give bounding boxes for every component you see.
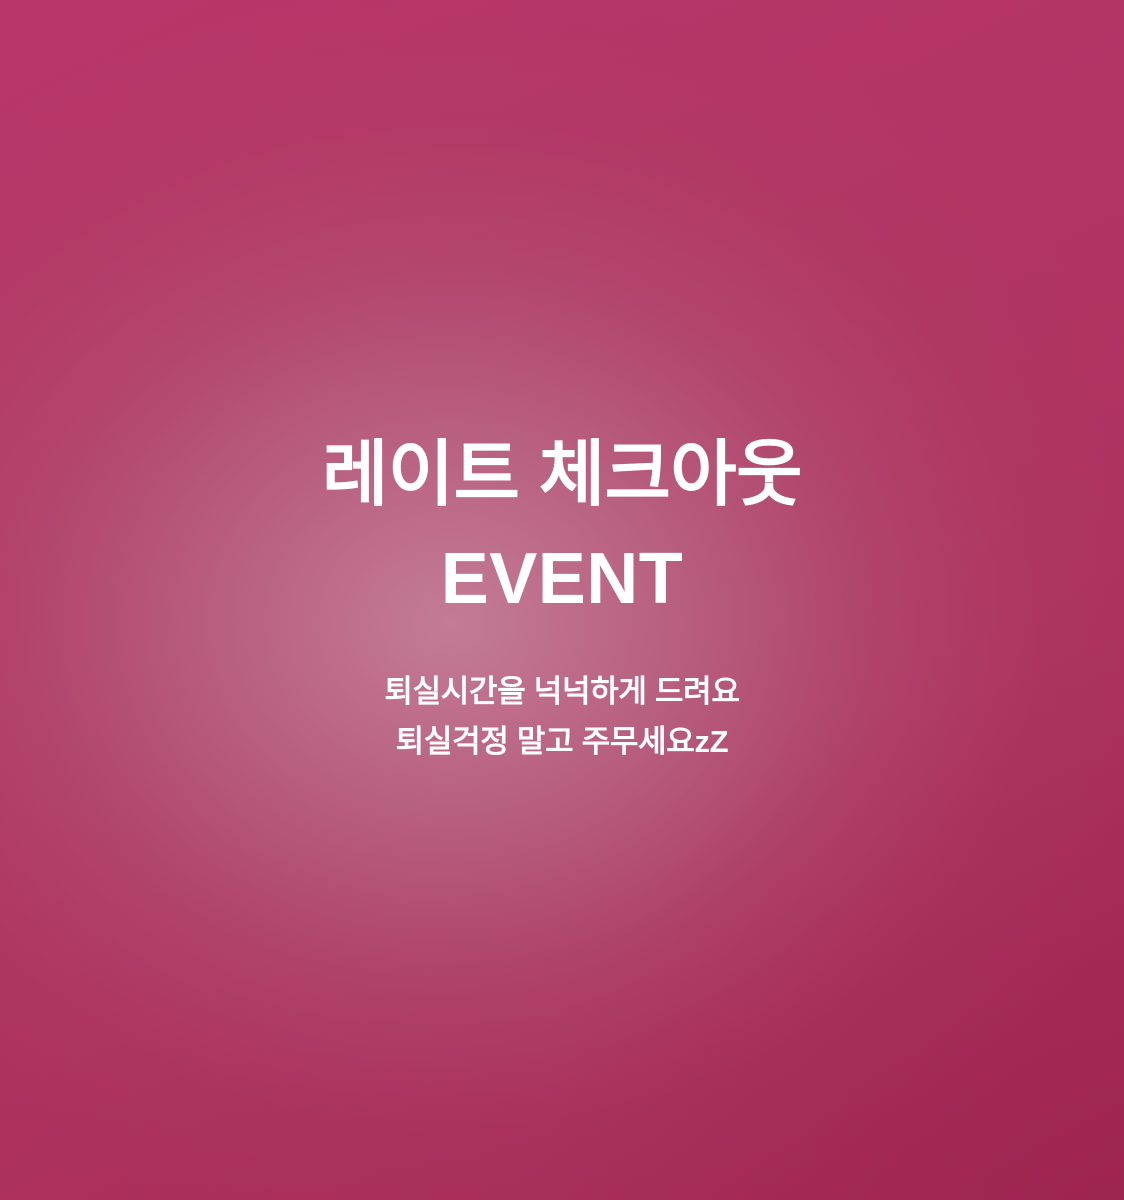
headline-line-event: EVENT <box>0 528 1124 632</box>
headline-block: 레이트 체크아웃 EVENT <box>0 424 1124 631</box>
headline-line-primary: 레이트 체크아웃 <box>0 424 1124 528</box>
subhead-line-1: 퇴실시간을 넉넉하게 드려요 <box>0 667 1124 717</box>
subhead-line-2: 퇴실걱정 말고 주무세요zZ <box>0 717 1124 767</box>
subhead-block: 퇴실시간을 넉넉하게 드려요 퇴실걱정 말고 주무세요zZ <box>0 667 1124 767</box>
promo-banner: 레이트 체크아웃 EVENT 퇴실시간을 넉넉하게 드려요 퇴실걱정 말고 주무… <box>0 0 1124 1200</box>
